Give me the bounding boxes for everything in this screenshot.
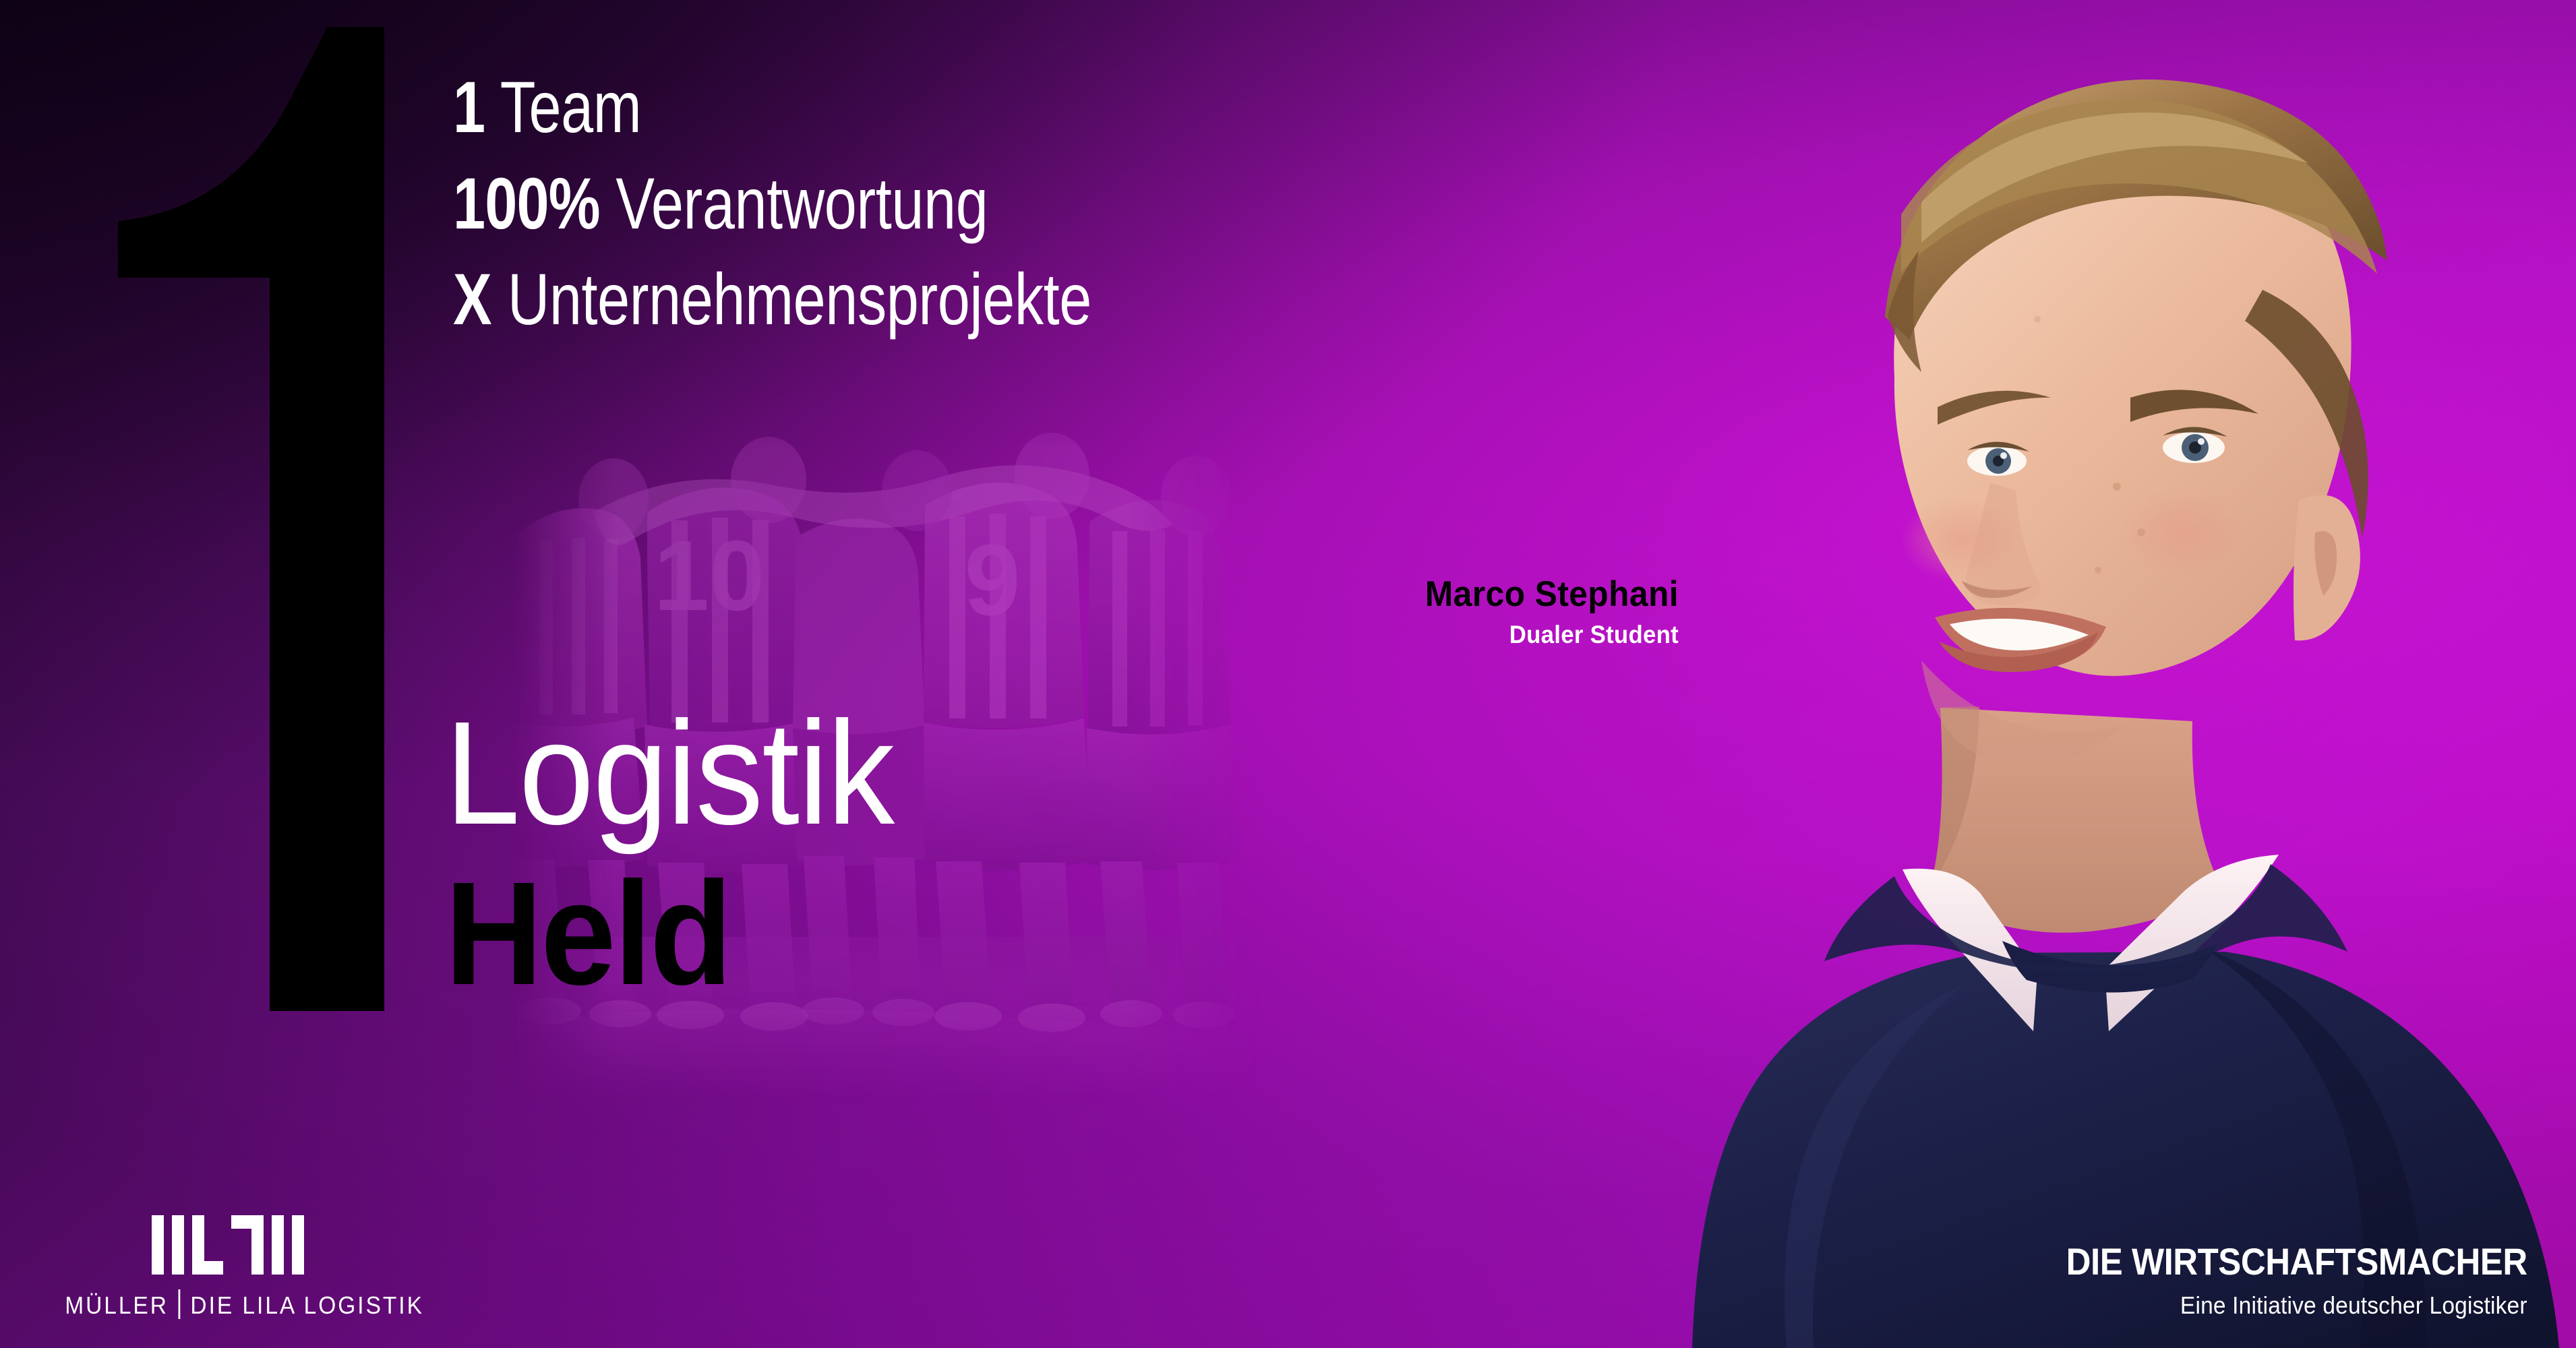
headline-1-strong: 1 <box>453 66 485 148</box>
mueller-bar-mark-icon <box>150 1214 305 1276</box>
headline-line-1: 1 Team <box>453 59 1262 156</box>
wirtschaftsmacher-title: DIE WIRTSCHAFTSMACHER <box>2066 1242 2527 1282</box>
mueller-word-left: MÜLLER <box>65 1291 169 1319</box>
headline-stack: 1 Team 100% Verantwortung X Unternehmens… <box>453 59 1464 348</box>
person-name: Marco Stephani <box>982 574 1679 615</box>
mueller-word-right: DIE LILA LOGISTIK <box>190 1291 423 1319</box>
mueller-word-separator <box>179 1289 181 1319</box>
slogan-block: Logistik Held <box>445 701 1254 1007</box>
headline-1-rest: Team <box>485 66 642 148</box>
slogan-line-logistik: Logistik <box>445 701 1189 847</box>
person-role: Dualer Student <box>982 621 1679 650</box>
slogan-line-held: Held <box>445 861 1189 1007</box>
headline-2-rest: Verantwortung <box>600 162 988 244</box>
mueller-logo[interactable]: MÜLLERDIE LILA LOGISTIK <box>53 1214 403 1320</box>
headline-2-strong: 100% <box>453 162 600 244</box>
headline-3-strong: X <box>453 258 491 340</box>
headline-line-2: 100% Verantwortung <box>453 156 1262 252</box>
person-credit: Marco Stephani Dualer Student <box>937 574 1679 649</box>
headline-3-rest: Unternehmensprojekte <box>491 258 1091 340</box>
numeral-one-graphic <box>94 7 418 1031</box>
headline-line-3: X Unternehmensprojekte <box>453 251 1262 348</box>
wirtschaftsmacher-subtitle: Eine Initiative deutscher Logistiker <box>2056 1291 2527 1320</box>
banner-canvas: 10 9 <box>0 0 2576 1348</box>
mueller-wordmark: MÜLLERDIE LILA LOGISTIK <box>65 1289 391 1320</box>
wirtschaftsmacher-logo[interactable]: DIE WIRTSCHAFTSMACHER Eine Initiative de… <box>2020 1242 2527 1320</box>
